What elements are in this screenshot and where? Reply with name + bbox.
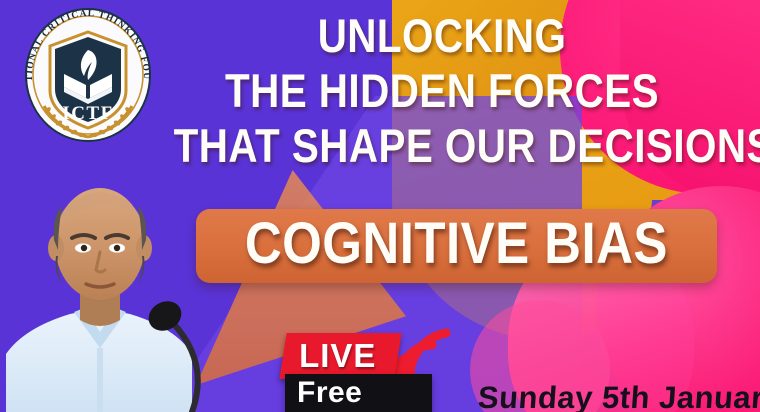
title-line-1: UNLOCKING bbox=[174, 12, 711, 59]
live-webinar-block: LIVE Free Webinar bbox=[283, 333, 398, 379]
event-date: Sunday 5th January bbox=[477, 382, 760, 412]
free-webinar-bar: Free Webinar bbox=[285, 374, 432, 412]
topic-label: COGNITIVE BIAS bbox=[245, 215, 668, 273]
live-badge: LIVE bbox=[279, 333, 402, 379]
webinar-poster: INTERNATIONAL CRITICAL THINKING FOUNDATI… bbox=[0, 0, 760, 412]
free-webinar-label: Free Webinar bbox=[297, 377, 418, 412]
speaker-photo bbox=[0, 172, 264, 412]
title-line-3: THAT SHAPE OUR DECISIONS: bbox=[174, 122, 711, 169]
live-label: LIVE bbox=[299, 339, 376, 372]
topic-highlight-box: COGNITIVE BIAS bbox=[196, 209, 717, 283]
title-line-2: THE HIDDEN FORCES bbox=[174, 67, 711, 114]
logo-acronym: ICTF bbox=[62, 103, 113, 124]
title-block: UNLOCKING THE HIDDEN FORCES THAT SHAPE O… bbox=[130, 12, 754, 175]
topic-highlight: COGNITIVE BIAS bbox=[196, 209, 717, 283]
